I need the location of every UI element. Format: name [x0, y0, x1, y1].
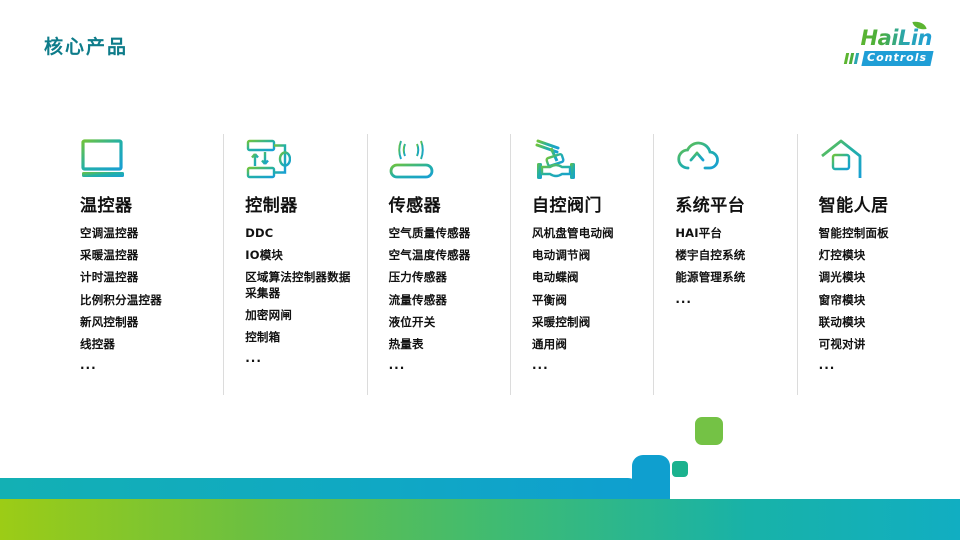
list-item[interactable]: 智能控制面板 — [819, 226, 932, 241]
list-item[interactable]: 空气质量传感器 — [389, 226, 502, 241]
list-item[interactable]: 计时温控器 — [80, 270, 215, 285]
list-item[interactable]: 控制箱 — [245, 330, 358, 345]
logo-wordmark: HaiLin — [861, 28, 932, 49]
list-item[interactable]: 风机盘管电动阀 — [532, 226, 645, 241]
list-item[interactable]: 联动模块 — [819, 315, 932, 330]
list-item[interactable]: 调光模块 — [819, 270, 932, 285]
product-list: 风机盘管电动阀 电动调节阀 电动蝶阀 平衡阀 采暖控制阀 通用阀 — [532, 226, 645, 352]
column-title: 控制器 — [245, 198, 358, 215]
column-title: 温控器 — [80, 198, 215, 215]
list-item[interactable]: 灯控模块 — [819, 248, 932, 263]
list-item[interactable]: 空气温度传感器 — [389, 248, 502, 263]
decorative-square-green — [695, 417, 723, 445]
product-column-controller[interactable]: 控制器 DDC IO模块 区域算法控制器数据采集器 加密网闸 控制箱 ... — [223, 130, 366, 395]
list-item[interactable]: 电动调节阀 — [532, 248, 645, 263]
list-ellipsis: ... — [675, 293, 788, 305]
product-column-sensor[interactable]: 传感器 空气质量传感器 空气温度传感器 压力传感器 流量传感器 液位开关 热量表… — [367, 130, 510, 395]
page-title: 核心产品 — [44, 38, 128, 57]
column-title: 系统平台 — [675, 198, 788, 215]
product-list: HAI平台 楼宇自控系统 能源管理系统 — [675, 226, 788, 286]
list-item[interactable]: 空调温控器 — [80, 226, 215, 241]
monitor-thermostat-icon — [80, 130, 215, 182]
product-list: 空调温控器 采暖温控器 计时温控器 比例积分温控器 新风控制器 线控器 — [80, 226, 215, 352]
logo-bars-icon — [845, 53, 858, 64]
list-ellipsis: ... — [245, 352, 358, 364]
product-column-smart-home[interactable]: 智能人居 智能控制面板 灯控模块 调光模块 窗帘模块 联动模块 可视对讲 ... — [797, 130, 940, 395]
list-item[interactable]: 区域算法控制器数据采集器 — [245, 270, 358, 300]
wireless-sensor-icon — [389, 130, 502, 182]
product-column-valve[interactable]: 自控阀门 风机盘管电动阀 电动调节阀 电动蝶阀 平衡阀 采暖控制阀 通用阀 ..… — [510, 130, 653, 395]
list-ellipsis: ... — [389, 359, 502, 371]
footer-step-shape — [0, 478, 640, 499]
product-list: DDC IO模块 区域算法控制器数据采集器 加密网闸 控制箱 — [245, 226, 358, 345]
list-ellipsis: ... — [819, 359, 932, 371]
product-list: 空气质量传感器 空气温度传感器 压力传感器 流量传感器 液位开关 热量表 — [389, 226, 502, 352]
list-item[interactable]: DDC — [245, 226, 358, 241]
list-item[interactable]: 加密网闸 — [245, 308, 358, 323]
list-item[interactable]: 比例积分温控器 — [80, 293, 215, 308]
list-item[interactable]: 新风控制器 — [80, 315, 215, 330]
column-title: 智能人居 — [819, 198, 932, 215]
list-item[interactable]: HAI平台 — [675, 226, 788, 241]
list-item[interactable]: 采暖控制阀 — [532, 315, 645, 330]
column-title: 自控阀门 — [532, 198, 645, 215]
slide-canvas: 核心产品 HaiLin Controls 温控器 空调温控器 — [0, 0, 960, 540]
smart-home-chip-icon — [819, 130, 932, 182]
list-item[interactable]: 液位开关 — [389, 315, 502, 330]
list-item[interactable]: IO模块 — [245, 248, 358, 263]
cloud-upload-icon — [675, 130, 788, 182]
product-list: 智能控制面板 灯控模块 调光模块 窗帘模块 联动模块 可视对讲 — [819, 226, 932, 352]
control-valve-icon — [532, 130, 645, 182]
hailin-logo: HaiLin Controls — [812, 26, 932, 68]
list-item[interactable]: 线控器 — [80, 337, 215, 352]
list-item[interactable]: 平衡阀 — [532, 293, 645, 308]
footer-gradient-bar — [0, 499, 960, 540]
column-title: 传感器 — [389, 198, 502, 215]
logo-subtitle-group: Controls — [845, 51, 932, 66]
product-column-thermostat[interactable]: 温控器 空调温控器 采暖温控器 计时温控器 比例积分温控器 新风控制器 线控器 … — [80, 130, 223, 395]
logo-subtitle-text: Controls — [867, 52, 927, 65]
list-item[interactable]: 通用阀 — [532, 337, 645, 352]
list-ellipsis: ... — [80, 359, 215, 371]
list-item[interactable]: 流量传感器 — [389, 293, 502, 308]
list-item[interactable]: 窗帘模块 — [819, 293, 932, 308]
product-columns: 温控器 空调温控器 采暖温控器 计时温控器 比例积分温控器 新风控制器 线控器 … — [80, 130, 940, 395]
controller-module-icon — [245, 130, 358, 182]
logo-subtitle: Controls — [861, 51, 933, 66]
list-item[interactable]: 压力传感器 — [389, 270, 502, 285]
footer-step-riser — [632, 455, 670, 499]
product-column-platform[interactable]: 系统平台 HAI平台 楼宇自控系统 能源管理系统 ... — [653, 130, 796, 395]
list-item[interactable]: 能源管理系统 — [675, 270, 788, 285]
list-ellipsis: ... — [532, 359, 645, 371]
list-item[interactable]: 采暖温控器 — [80, 248, 215, 263]
decorative-square-teal — [672, 461, 688, 477]
list-item[interactable]: 楼宇自控系统 — [675, 248, 788, 263]
list-item[interactable]: 热量表 — [389, 337, 502, 352]
list-item[interactable]: 可视对讲 — [819, 337, 932, 352]
list-item[interactable]: 电动蝶阀 — [532, 270, 645, 285]
